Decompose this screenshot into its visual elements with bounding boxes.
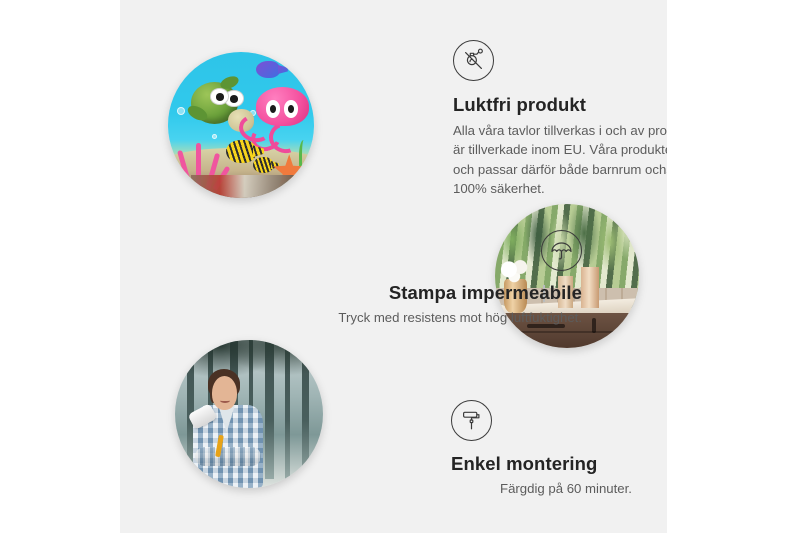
umbrella-icon [541,230,582,271]
seaweed [299,140,311,178]
yellow-fish-small [253,157,273,173]
feature-title: Stampa impermeabile [300,281,582,304]
feature-block-stampa-impermeabile: Stampa impermeabile Tryck med resistens … [300,230,582,327]
feature-body: Tryck med resistens mot hög luftfuktighe… [300,308,582,327]
feature-block-enkel-montering: Enkel montering Färgdig på 60 minuter. [451,400,667,498]
screenshot-stage: Luktfri produkt Alla våra tavlor tillver… [0,0,800,533]
blue-fish [256,61,281,79]
feature-title: Enkel montering [451,452,667,475]
underwater-cartoon-photo [168,52,314,198]
towel [581,267,598,307]
no-fragrance-perfume-icon [453,40,494,81]
vanity-drawer-line [501,331,639,333]
feature-body: Alla våra tavlor tillverkas i och av pro… [453,121,667,198]
sea-floor-strip [191,175,293,198]
paint-roller-icon [451,400,492,441]
icon-wrap [451,400,667,441]
woman-with-roller-forest-photo [175,340,323,488]
feature-block-luktfri-produkt: Luktfri produkt Alla våra tavlor tillver… [453,40,667,198]
yellow-fish [226,140,255,163]
feature-title: Luktfri produkt [453,93,667,116]
woman-figure [187,367,270,488]
feature-body: Färgdig på 60 minuter. [451,479,667,498]
icon-wrap [453,40,667,81]
bubble-icon [212,134,217,139]
icon-wrap [300,230,582,271]
feature-panel: Luktfri produkt Alla våra tavlor tillver… [120,0,667,533]
